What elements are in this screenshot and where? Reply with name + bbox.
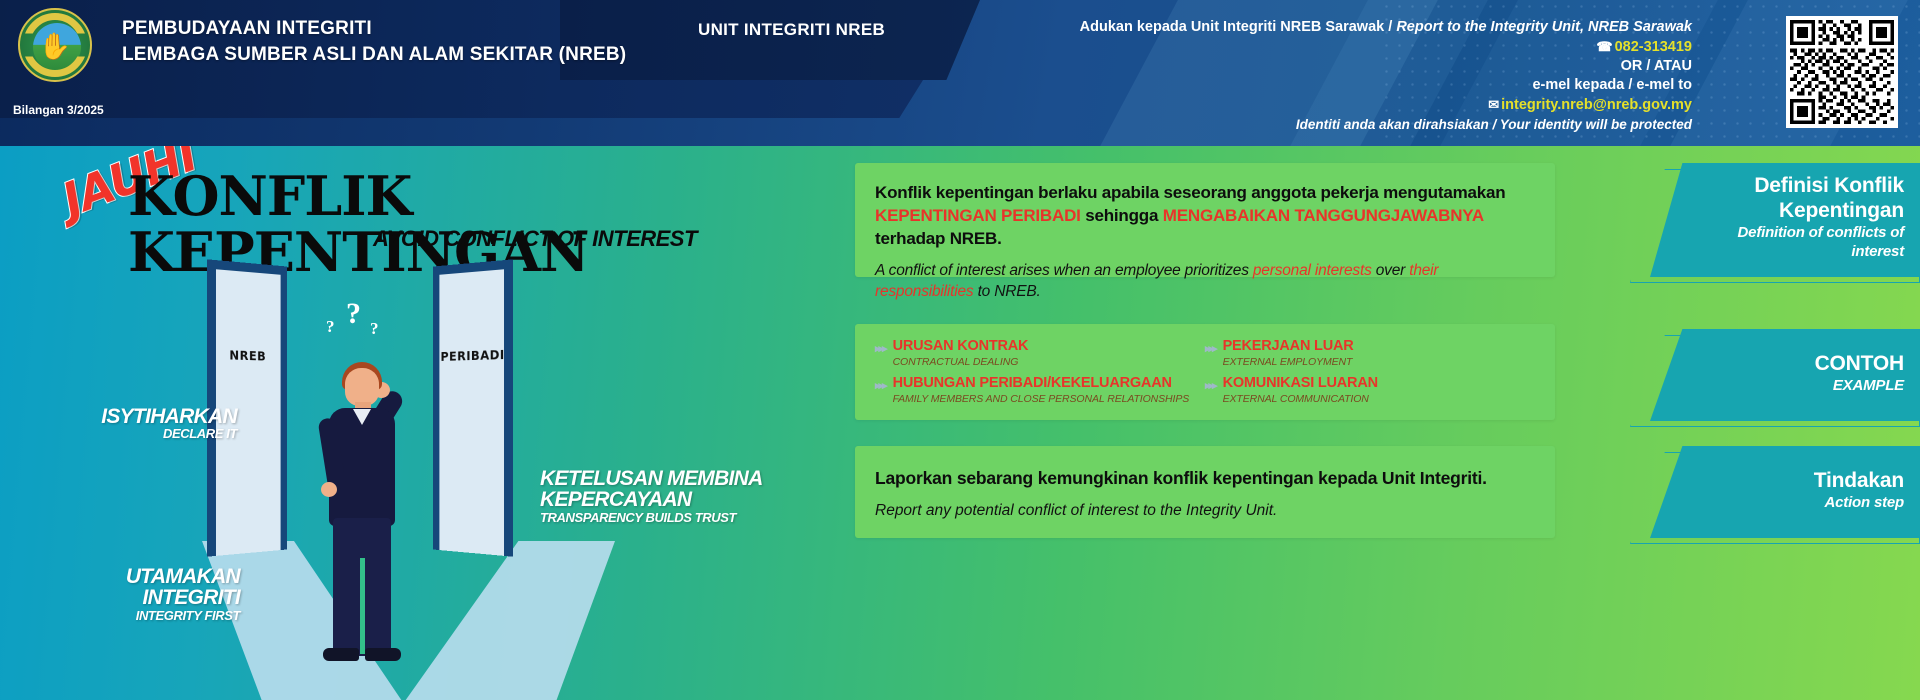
example-item: ▸▸▸ PEKERJAAN LUAR EXTERNAL EMPLOYMENT (1205, 338, 1535, 369)
action-tab-ms: Tindakan (1684, 468, 1904, 493)
action-card: Laporkan sebarang kemungkinan konflik ke… (855, 446, 1555, 538)
door-peribadi-label: PERIBADI (433, 347, 513, 364)
definition-tab: Definisi Konflik Kepentingan Definition … (1650, 163, 1920, 277)
email-label: e-mel kepada / e-mel to (962, 76, 1692, 95)
action-tab: Tindakan Action step (1650, 446, 1920, 538)
mail-icon: ✉ (1488, 97, 1499, 112)
nreb-logo-icon: ✋ (18, 8, 92, 82)
email-address[interactable]: integrity.nreb@nreb.gov.my (1501, 97, 1692, 113)
definition-text-en: A conflict of interest arises when an em… (875, 260, 1533, 302)
example-item: ▸▸▸ KOMUNIKASI LUARAN EXTERNAL COMMUNICA… (1205, 375, 1535, 406)
org-line-1: PEMBUDAYAAN INTEGRITI (122, 16, 626, 42)
definition-en-part3: to NREB. (973, 283, 1040, 300)
examples-tab: CONTOH EXAMPLE (1650, 329, 1920, 421)
definition-ms-highlight1: KEPENTINGAN PERIBADI (875, 206, 1081, 225)
label-transparency-ms: KETELUSAN MEMBINA KEPERCAYAAN (540, 468, 790, 511)
question-mark-small-left: ? (326, 317, 335, 337)
label-transparency: KETELUSAN MEMBINA KEPERCAYAAN TRANSPAREN… (540, 468, 790, 524)
action-text-en: Report any potential conflict of interes… (875, 502, 1533, 520)
person-illustration (315, 346, 411, 676)
example-label-ms: KOMUNIKASI LUARAN (1223, 375, 1378, 392)
poster-body: JAUHI KONFLIK KEPENTINGAN AVOID CONFLICT… (0, 146, 1920, 700)
or-line: OR / ATAU (962, 57, 1692, 76)
definition-text-ms: Konflik kepentingan berlaku apabila sese… (875, 181, 1533, 250)
definition-ms-part2: sehingga (1081, 206, 1163, 225)
example-label-ms: URUSAN KONTRAK (893, 338, 1029, 355)
example-text: URUSAN KONTRAK CONTRACTUAL DEALING (893, 338, 1029, 369)
example-label-en: EXTERNAL EMPLOYMENT (1223, 355, 1354, 369)
qr-code-icon[interactable] (1786, 16, 1898, 128)
report-label-ms: Adukan kepada Unit Integriti NREB Sarawa… (1080, 19, 1397, 35)
content-column: Konflik kepentingan berlaku apabila sese… (840, 146, 1920, 700)
definition-en-part1: A conflict of interest arises when an em… (875, 262, 1253, 279)
definition-ms-part1: Konflik kepentingan berlaku apabila sese… (875, 183, 1505, 202)
chevron-right-icon: ▸▸▸ (875, 342, 886, 355)
example-item: ▸▸▸ URUSAN KONTRAK CONTRACTUAL DEALING (875, 338, 1205, 369)
example-label-ms: PEKERJAAN LUAR (1223, 338, 1354, 355)
definition-en-highlight1: personal interests (1253, 262, 1372, 279)
chevron-right-icon: ▸▸▸ (1205, 342, 1216, 355)
example-label-ms: HUBUNGAN PERIBADI/KEKELUARGAAN (893, 375, 1190, 392)
unit-title: UNIT INTEGRITI NREB (698, 20, 885, 40)
question-marks-icon: ? ? ? (322, 301, 398, 351)
question-mark-large: ? (346, 297, 361, 331)
action-text-ms: Laporkan sebarang kemungkinan konflik ke… (875, 468, 1533, 489)
phone-number[interactable]: 082-313419 (1615, 39, 1692, 55)
light-beam-right (405, 541, 615, 700)
action-tab-en: Action step (1684, 493, 1904, 512)
example-label-en: FAMILY MEMBERS AND CLOSE PERSONAL RELATI… (893, 392, 1190, 406)
example-item: ▸▸▸ HUBUNGAN PERIBADI/KEKELUARGAAN FAMIL… (875, 375, 1205, 406)
label-integrity-en: INTEGRITY FIRST (30, 609, 240, 622)
door-nreb-label: NREB (207, 347, 287, 364)
example-label-en: CONTRACTUAL DEALING (893, 355, 1029, 369)
example-text: PEKERJAAN LUAR EXTERNAL EMPLOYMENT (1223, 338, 1354, 369)
chevron-right-icon: ▸▸▸ (875, 379, 886, 392)
definition-tab-ms: Definisi Konflik Kepentingan (1684, 173, 1904, 223)
label-declare-ms: ISYTIHARKAN (92, 406, 237, 427)
report-line: Adukan kepada Unit Integriti NREB Sarawa… (962, 18, 1692, 37)
example-text: HUBUNGAN PERIBADI/KEKELUARGAAN FAMILY ME… (893, 375, 1190, 406)
question-mark-small-right: ? (370, 319, 379, 339)
phone-line[interactable]: ☎082-313419 (962, 37, 1692, 57)
example-label-en: EXTERNAL COMMUNICATION (1223, 392, 1378, 406)
email-line[interactable]: ✉integrity.nreb@nreb.gov.my (962, 95, 1692, 115)
org-line-2: LEMBAGA SUMBER ASLI DAN ALAM SEKITAR (NR… (122, 42, 626, 68)
examples-tab-ms: CONTOH (1684, 351, 1904, 376)
hero-illustration: JAUHI KONFLIK KEPENTINGAN AVOID CONFLICT… (0, 146, 840, 700)
label-declare: ISYTIHARKAN DECLARE IT (92, 406, 237, 441)
definition-en-part2: over (1372, 262, 1410, 279)
examples-card: ▸▸▸ URUSAN KONTRAK CONTRACTUAL DEALING ▸… (855, 324, 1555, 420)
examples-tab-en: EXAMPLE (1684, 376, 1904, 395)
definition-ms-part3: terhadap NREB. (875, 229, 1002, 248)
contact-block: Adukan kepada Unit Integriti NREB Sarawa… (962, 18, 1692, 134)
example-text: KOMUNIKASI LUARAN EXTERNAL COMMUNICATION (1223, 375, 1378, 406)
label-integrity-first: UTAMAKAN INTEGRITI INTEGRITY FIRST (30, 566, 240, 622)
examples-column-left: ▸▸▸ URUSAN KONTRAK CONTRACTUAL DEALING ▸… (875, 338, 1205, 412)
issue-number: Bilangan 3/2025 (13, 103, 104, 117)
phone-icon: ☎ (1596, 39, 1612, 54)
organisation-title: PEMBUDAYAAN INTEGRITI LEMBAGA SUMBER ASL… (122, 16, 626, 68)
poster-root: ✋ PEMBUDAYAAN INTEGRITI LEMBAGA SUMBER A… (0, 0, 1920, 700)
definition-tab-en: Definition of conflicts of interest (1684, 223, 1904, 261)
label-integrity-ms: UTAMAKAN INTEGRITI (30, 566, 240, 609)
door-peribadi: PERIBADI (433, 259, 513, 556)
chevron-right-icon: ▸▸▸ (1205, 379, 1216, 392)
page-header: ✋ PEMBUDAYAAN INTEGRITI LEMBAGA SUMBER A… (0, 0, 1920, 146)
examples-grid: ▸▸▸ URUSAN KONTRAK CONTRACTUAL DEALING ▸… (875, 338, 1537, 412)
examples-column-right: ▸▸▸ PEKERJAAN LUAR EXTERNAL EMPLOYMENT ▸… (1205, 338, 1535, 412)
report-label-en: Report to the Integrity Unit, NREB Saraw… (1396, 19, 1692, 35)
label-declare-en: DECLARE IT (92, 427, 237, 440)
label-transparency-en: TRANSPARENCY BUILDS TRUST (540, 511, 790, 524)
definition-card: Konflik kepentingan berlaku apabila sese… (855, 163, 1555, 277)
privacy-note: Identiti anda akan dirahsiakan / Your id… (962, 115, 1692, 134)
definition-ms-highlight2: MENGABAIKAN TANGGUNGJAWABNYA (1163, 206, 1484, 225)
